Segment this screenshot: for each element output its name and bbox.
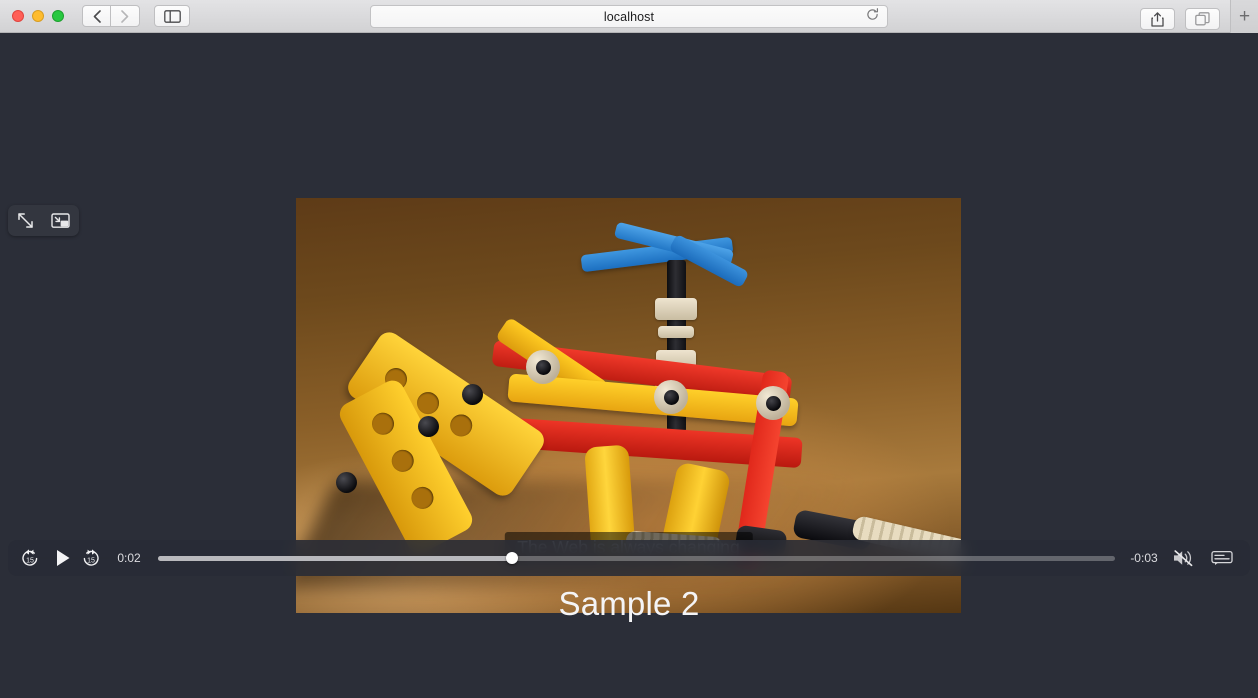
lego-bushing — [655, 298, 697, 320]
mute-button[interactable] — [1173, 549, 1194, 567]
lego-hub — [756, 386, 790, 420]
scrubber-knob[interactable] — [506, 552, 518, 564]
svg-text:15: 15 — [87, 558, 95, 565]
media-controls-bar: 15 15 0:02 -0:03 — [8, 540, 1250, 576]
close-window-button[interactable] — [12, 10, 24, 22]
skip-back-15-icon: 15 — [20, 548, 40, 568]
reload-button[interactable] — [866, 8, 879, 26]
picture-in-picture-icon — [51, 213, 70, 229]
new-tab-button[interactable]: + — [1230, 0, 1258, 33]
scrubber-track[interactable] — [158, 556, 1115, 561]
lego-hub — [526, 350, 560, 384]
forward-button[interactable] — [111, 5, 140, 27]
browser-toolbar: localhost + — [0, 0, 1258, 33]
lego-hub — [654, 380, 688, 414]
skip-forward-15-button[interactable]: 15 — [81, 548, 101, 568]
overlay-controls-panel — [8, 205, 79, 236]
lego-hole — [368, 409, 398, 439]
minimize-window-button[interactable] — [32, 10, 44, 22]
page-content: The Web is always changing 15 15 — [0, 33, 1258, 698]
sidebar-icon — [164, 10, 181, 23]
closed-captions-icon — [1211, 550, 1233, 566]
current-time-label: 0:02 — [114, 551, 144, 565]
lego-hole — [446, 410, 477, 441]
lego-pin — [462, 384, 483, 405]
address-bar[interactable]: localhost — [370, 5, 888, 28]
lego-hole — [408, 483, 438, 513]
toolbar-right-actions: + — [1140, 5, 1258, 33]
window-controls — [0, 10, 64, 22]
remaining-time-label: -0:03 — [1129, 551, 1159, 565]
play-button[interactable] — [55, 549, 71, 567]
page-title: Sample 2 — [0, 585, 1258, 623]
chevron-left-icon — [93, 10, 101, 23]
zoom-window-button[interactable] — [52, 10, 64, 22]
navigation-buttons — [82, 5, 140, 27]
svg-text:15: 15 — [26, 558, 34, 565]
picture-in-picture-button[interactable] — [51, 213, 70, 229]
share-button[interactable] — [1140, 8, 1175, 30]
chevron-right-icon — [121, 10, 129, 23]
play-icon — [55, 549, 71, 567]
tab-overview-button[interactable] — [1185, 8, 1220, 30]
closed-captions-button[interactable] — [1211, 550, 1233, 566]
url-text: localhost — [604, 10, 654, 24]
skip-forward-15-icon: 15 — [81, 548, 101, 568]
lego-pin — [336, 472, 357, 493]
sidebar-toggle-button[interactable] — [154, 5, 190, 27]
share-icon — [1151, 12, 1164, 27]
back-button[interactable] — [82, 5, 111, 27]
address-bar-container: localhost — [370, 5, 888, 28]
fullscreen-button[interactable] — [17, 212, 34, 229]
fullscreen-icon — [17, 212, 34, 229]
skip-back-15-button[interactable]: 15 — [20, 548, 40, 568]
new-tab-label: + — [1239, 6, 1250, 28]
reload-icon — [866, 8, 879, 21]
media-controls-right — [1173, 549, 1238, 567]
tab-overview-icon — [1195, 12, 1210, 26]
lego-bushing — [658, 326, 694, 338]
scrubber-fill — [158, 556, 512, 561]
lego-hole — [388, 446, 418, 476]
lego-pin — [418, 416, 439, 437]
muted-speaker-icon — [1173, 549, 1194, 567]
